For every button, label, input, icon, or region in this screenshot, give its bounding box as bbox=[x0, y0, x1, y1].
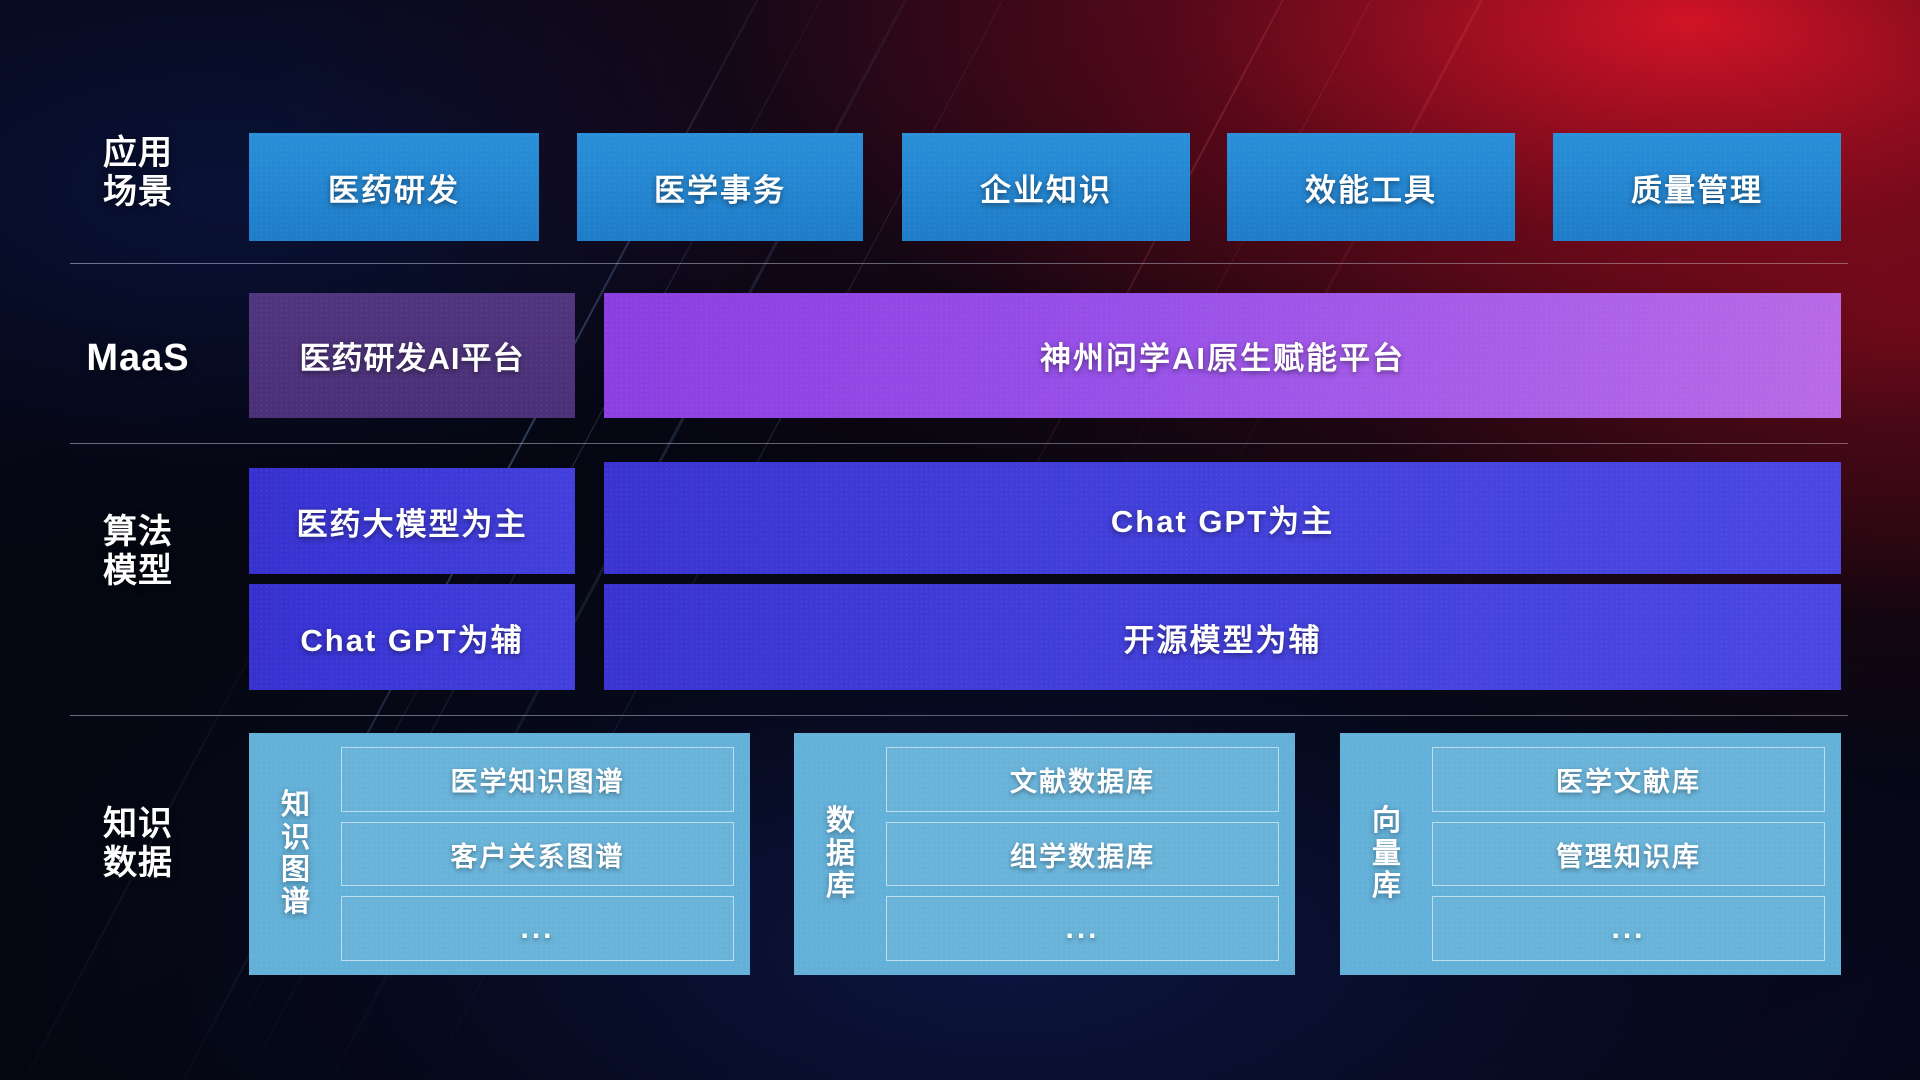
row-label-knowledge: 知识 数据 bbox=[78, 805, 198, 883]
knowledge-group-0-title: 知 识 图 谱 bbox=[265, 747, 327, 961]
knowledge-group-0-title-char-0: 知 bbox=[281, 789, 311, 821]
knowledge-group-1-item-0-label: 文献数据库 bbox=[1010, 760, 1155, 799]
app-box-4[interactable]: 质量管理 bbox=[1553, 133, 1841, 241]
knowledge-item[interactable]: 客户关系图谱 bbox=[341, 822, 734, 887]
knowledge-group-0-items: 医学知识图谱 客户关系图谱 ... bbox=[341, 747, 734, 961]
knowledge-item[interactable]: 文献数据库 bbox=[886, 747, 1279, 812]
knowledge-group-1[interactable]: 数 据 库 文献数据库 组学数据库 ... bbox=[794, 733, 1295, 975]
app-box-1-label: 医学事务 bbox=[654, 165, 786, 210]
algo-box-row1-left[interactable]: Chat GPT为辅 bbox=[249, 584, 575, 690]
app-box-3[interactable]: 效能工具 bbox=[1227, 133, 1515, 241]
algo-box-row0-left[interactable]: 医药大模型为主 bbox=[249, 468, 575, 574]
architecture-diagram: 应用 场景 医药研发 医学事务 企业知识 效能工具 质量管理 MaaS 医药研发… bbox=[0, 0, 1920, 1080]
knowledge-group-2-title-char-2: 库 bbox=[1372, 870, 1402, 902]
knowledge-group-1-title: 数 据 库 bbox=[810, 747, 872, 961]
maas-box-0[interactable]: 医药研发AI平台 bbox=[249, 293, 575, 418]
knowledge-group-2-title: 向 量 库 bbox=[1356, 747, 1418, 961]
knowledge-group-0-title-char-2: 图 bbox=[281, 854, 311, 886]
app-box-2[interactable]: 企业知识 bbox=[902, 133, 1190, 241]
knowledge-group-1-item-2-label: ... bbox=[1065, 912, 1099, 946]
algo-box-row0-right[interactable]: Chat GPT为主 bbox=[604, 462, 1841, 574]
knowledge-group-0[interactable]: 知 识 图 谱 医学知识图谱 客户关系图谱 ... bbox=[249, 733, 750, 975]
knowledge-group-0-title-char-1: 识 bbox=[281, 822, 311, 854]
knowledge-group-2-title-char-0: 向 bbox=[1372, 805, 1402, 837]
app-box-1[interactable]: 医学事务 bbox=[577, 133, 863, 241]
knowledge-group-2-item-2-label: ... bbox=[1611, 912, 1645, 946]
knowledge-item[interactable]: 医学文献库 bbox=[1432, 747, 1825, 812]
knowledge-item[interactable]: 医学知识图谱 bbox=[341, 747, 734, 812]
algo-box-row1-right[interactable]: 开源模型为辅 bbox=[604, 584, 1841, 690]
row-label-knowledge-line2: 数据 bbox=[78, 844, 198, 883]
row-label-knowledge-line1: 知识 bbox=[78, 805, 198, 844]
algo-box-row1-right-label: 开源模型为辅 bbox=[1124, 615, 1322, 660]
knowledge-group-2-items: 医学文献库 管理知识库 ... bbox=[1432, 747, 1825, 961]
app-box-0-label: 医药研发 bbox=[328, 165, 460, 210]
row-label-algorithm-line2: 模型 bbox=[78, 552, 198, 591]
row-label-algorithm: 算法 模型 bbox=[78, 513, 198, 591]
knowledge-group-1-title-char-0: 数 bbox=[826, 805, 856, 837]
divider-algorithm-knowledge bbox=[70, 715, 1848, 716]
row-label-maas: MaaS bbox=[70, 337, 206, 381]
knowledge-group-1-title-char-2: 库 bbox=[826, 870, 856, 902]
app-box-4-label: 质量管理 bbox=[1631, 165, 1763, 210]
app-box-2-label: 企业知识 bbox=[980, 165, 1112, 210]
knowledge-group-2-title-char-1: 量 bbox=[1372, 838, 1402, 870]
row-label-application-line1: 应用 bbox=[78, 134, 198, 173]
knowledge-item[interactable]: 管理知识库 bbox=[1432, 822, 1825, 887]
maas-box-0-label: 医药研发AI平台 bbox=[300, 333, 525, 378]
knowledge-group-0-item-0-label: 医学知识图谱 bbox=[451, 760, 625, 799]
app-box-3-label: 效能工具 bbox=[1305, 165, 1437, 210]
knowledge-group-0-item-2-label: ... bbox=[520, 912, 554, 946]
row-label-algorithm-line1: 算法 bbox=[78, 513, 198, 552]
row-label-maas-text: MaaS bbox=[70, 337, 206, 381]
knowledge-group-1-items: 文献数据库 组学数据库 ... bbox=[886, 747, 1279, 961]
row-label-application-line2: 场景 bbox=[78, 173, 198, 212]
knowledge-group-0-title-char-3: 谱 bbox=[281, 886, 311, 918]
knowledge-item[interactable]: ... bbox=[341, 896, 734, 961]
algo-box-row1-left-label: Chat GPT为辅 bbox=[300, 615, 523, 660]
algo-box-row0-left-label: 医药大模型为主 bbox=[297, 499, 528, 544]
knowledge-group-2[interactable]: 向 量 库 医学文献库 管理知识库 ... bbox=[1340, 733, 1841, 975]
knowledge-group-0-item-1-label: 客户关系图谱 bbox=[451, 835, 625, 874]
knowledge-item[interactable]: 组学数据库 bbox=[886, 822, 1279, 887]
knowledge-group-1-title-char-1: 据 bbox=[826, 838, 856, 870]
algo-box-row0-right-label: Chat GPT为主 bbox=[1111, 496, 1334, 541]
row-label-application: 应用 场景 bbox=[78, 134, 198, 212]
knowledge-item[interactable]: ... bbox=[886, 896, 1279, 961]
divider-maas-algorithm bbox=[70, 443, 1848, 444]
app-box-0[interactable]: 医药研发 bbox=[249, 133, 539, 241]
maas-box-1-label: 神州问学AI原生赋能平台 bbox=[1040, 333, 1405, 378]
knowledge-group-1-item-1-label: 组学数据库 bbox=[1010, 835, 1155, 874]
divider-application-maas bbox=[70, 263, 1848, 264]
maas-box-1[interactable]: 神州问学AI原生赋能平台 bbox=[604, 293, 1841, 418]
knowledge-item[interactable]: ... bbox=[1432, 896, 1825, 961]
knowledge-group-2-item-0-label: 医学文献库 bbox=[1556, 760, 1701, 799]
knowledge-group-2-item-1-label: 管理知识库 bbox=[1556, 835, 1701, 874]
